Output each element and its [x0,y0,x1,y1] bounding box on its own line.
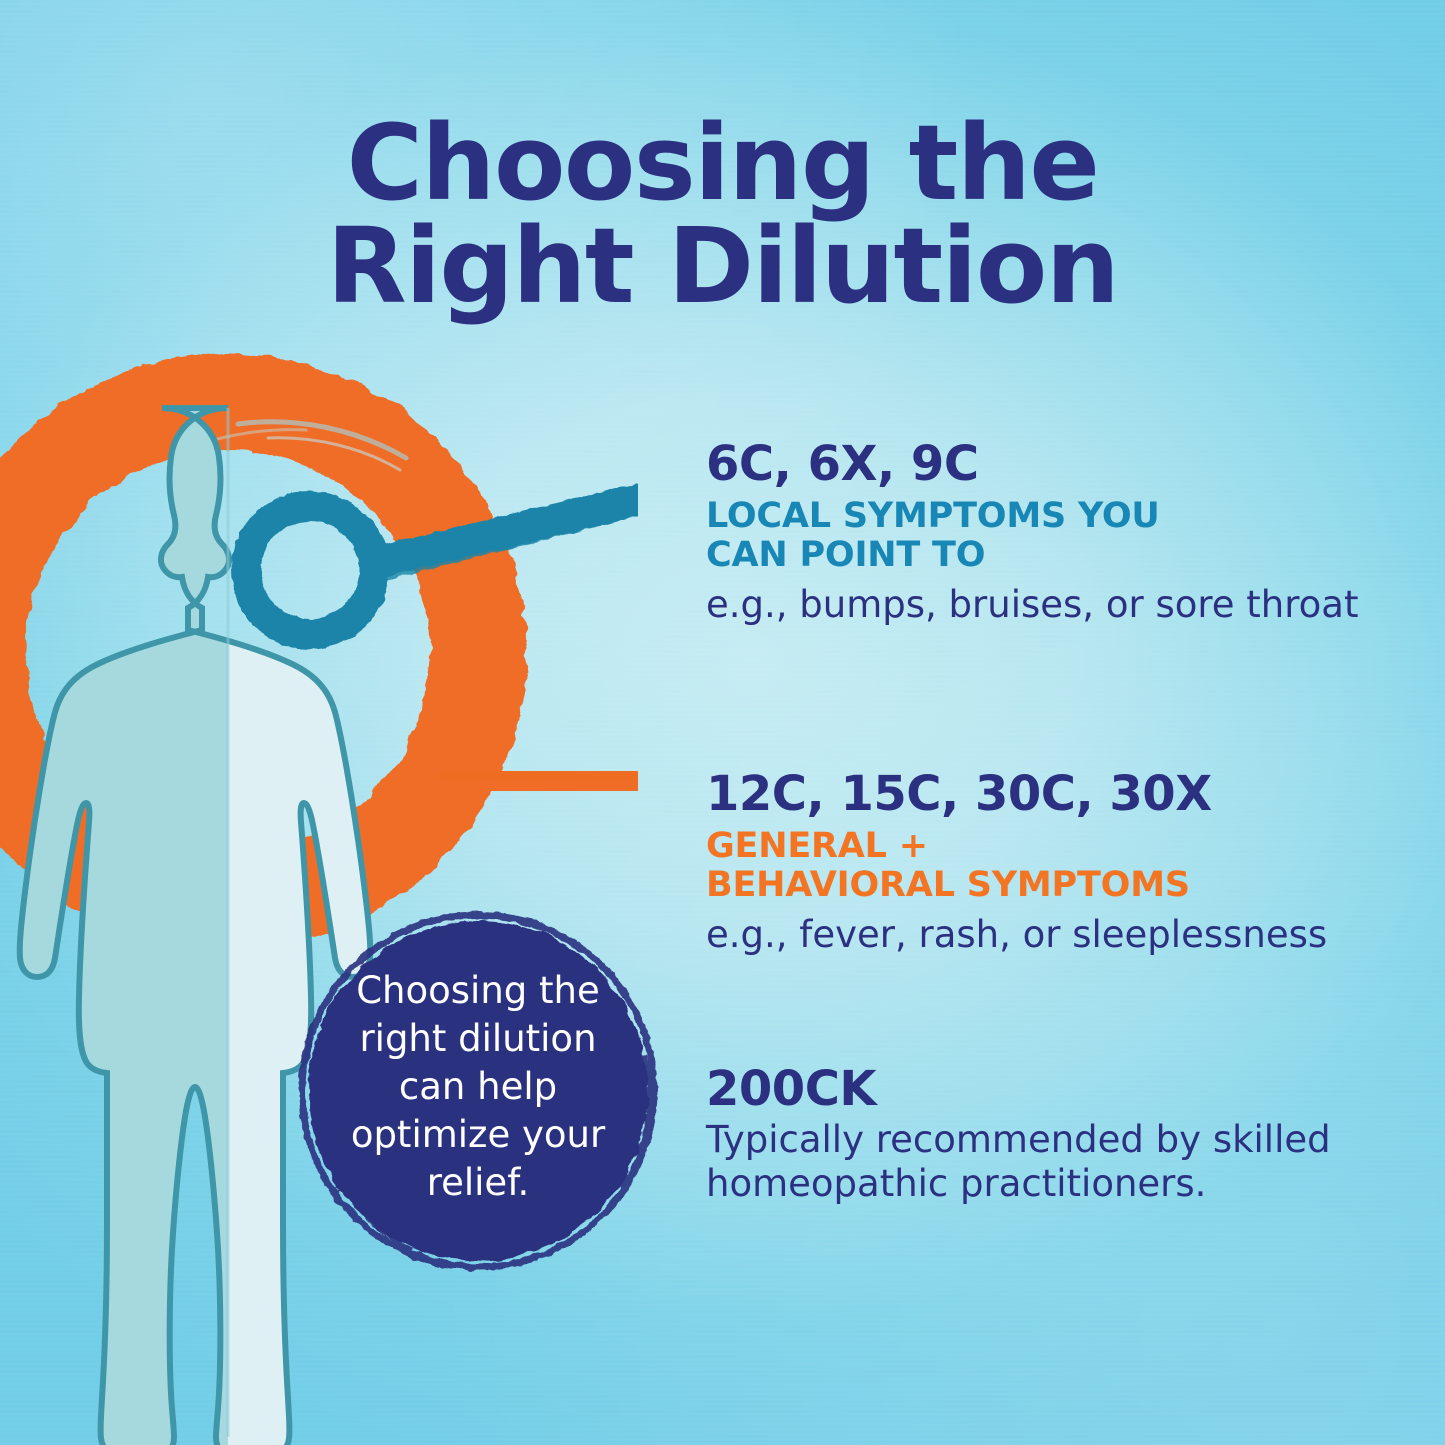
dilution-subtitle-line-2: CAN POINT TO [706,535,985,575]
dilution-subtitle-line-1: GENERAL + [706,826,928,866]
page-title: Choosing the Right Dilution [0,112,1445,318]
dilution-subtitle: LOCAL SYMPTOMS YOU CAN POINT TO [706,497,1406,575]
list-item: 6C, 6X, 9C LOCAL SYMPTOMS YOU CAN POINT … [706,440,1406,627]
dilution-example: e.g., fever, rash, or sleeplessness [706,913,1406,957]
dilution-dose: 200CK [706,1065,1406,1114]
page-title-line-2: Right Dilution [0,215,1445,318]
dilution-dose: 6C, 6X, 9C [706,440,1406,489]
orange-brush-connector-stroke [408,774,638,788]
illustration [0,352,638,1445]
dilution-description-line-1: Typically recommended by skilled [706,1118,1331,1161]
dilution-subtitle: GENERAL + BEHAVIORAL SYMPTOMS [706,827,1406,905]
badge-text: Choosing the right dilution can help opt… [326,967,630,1207]
list-item: 200CK Typically recommended by skilled h… [706,1065,1406,1205]
dilution-dose: 12C, 15C, 30C, 30X [706,770,1406,819]
dilution-example: e.g., bumps, bruises, or sore throat [706,583,1406,627]
dilution-subtitle-line-2: BEHAVIORAL SYMPTOMS [706,865,1190,905]
dilution-description: Typically recommended by skilled homeopa… [706,1118,1406,1205]
status-badge: Choosing the right dilution can help opt… [292,905,664,1277]
dilution-description-line-2: homeopathic practitioners. [706,1162,1206,1205]
list-item: 12C, 15C, 30C, 30X GENERAL + BEHAVIORAL … [706,770,1406,957]
dilution-subtitle-line-1: LOCAL SYMPTOMS YOU [706,496,1160,536]
infographic-poster: Choosing the Right Dilution [0,0,1445,1445]
